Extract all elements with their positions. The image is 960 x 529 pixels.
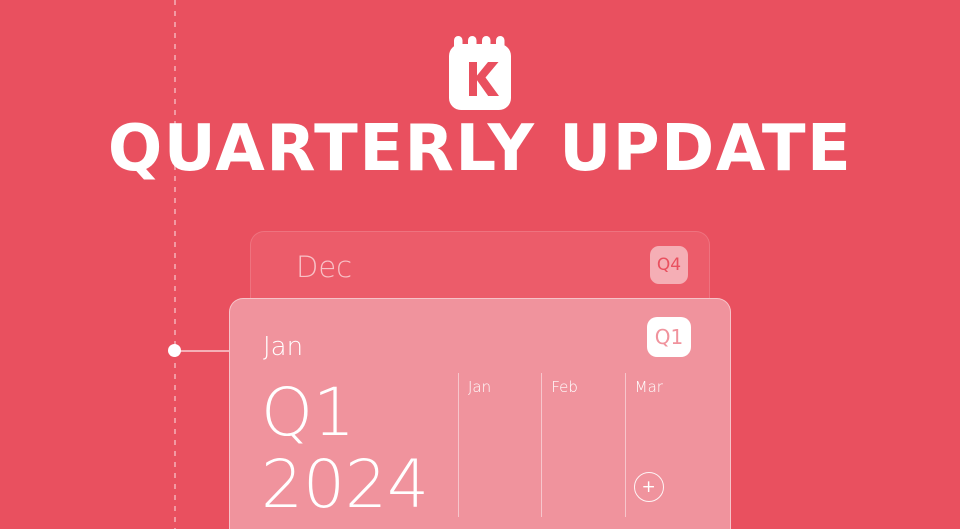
card-month-label: Dec xyxy=(296,250,352,284)
page-title: QUARTERLY UPDATE xyxy=(0,113,960,185)
calendar-k-logo-icon xyxy=(449,32,511,110)
quarter-card-q1-2024[interactable]: Jan Q1 Q1 2024 Jan Feb Mar + xyxy=(229,298,731,529)
quarter-heading-year: 2024 xyxy=(261,449,429,521)
month-column-mar[interactable]: Mar + xyxy=(625,373,708,517)
slide-canvas: QUARTERLY UPDATE Dec Q4 Jan Q1 Q1 2024 J… xyxy=(0,0,960,529)
timeline-dot xyxy=(168,344,181,357)
status-badge-q1: Q1 xyxy=(647,317,691,357)
month-column-label: Feb xyxy=(551,373,624,397)
add-event-button[interactable]: + xyxy=(634,472,664,502)
month-column-label: Mar xyxy=(635,373,708,397)
month-column-label: Jan xyxy=(468,373,541,397)
timeline-axis-dashed-line xyxy=(174,0,176,529)
quarter-heading: Q1 2024 xyxy=(261,377,429,521)
month-column-jan[interactable]: Jan xyxy=(458,373,541,517)
status-badge-q4: Q4 xyxy=(650,246,688,284)
quarter-heading-quarter: Q1 xyxy=(261,377,429,449)
quarter-month-columns: Jan Feb Mar + xyxy=(458,373,708,517)
month-column-feb[interactable]: Feb xyxy=(541,373,624,517)
timeline-connector-line xyxy=(180,350,232,352)
card-month-label: Jan xyxy=(263,331,303,363)
